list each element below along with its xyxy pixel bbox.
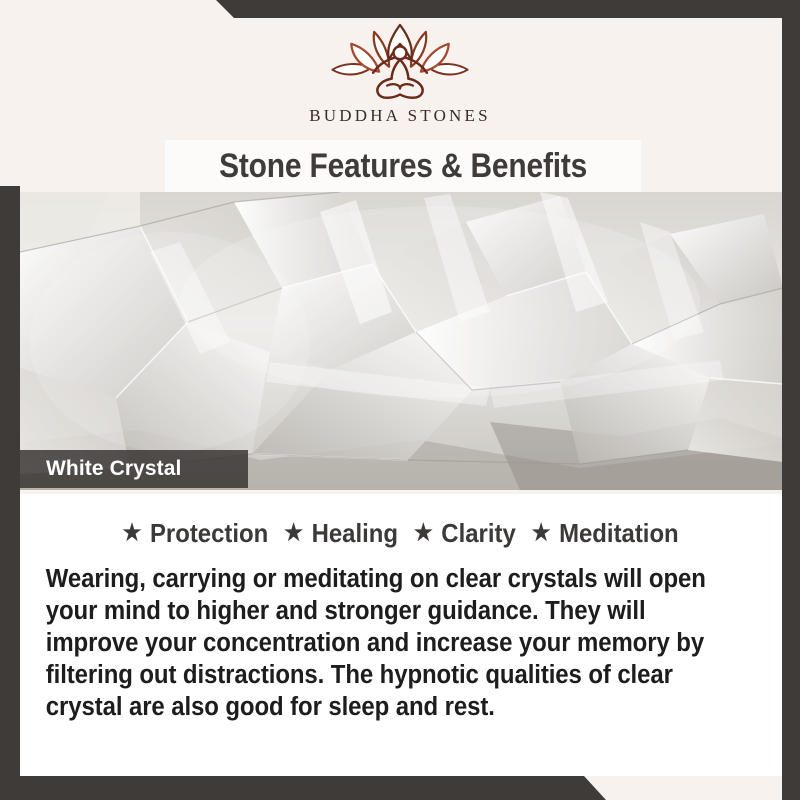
title-plaque: Stone Features & Benefits <box>165 140 641 192</box>
lotus-meditation-icon <box>325 22 475 104</box>
benefit-label: Healing <box>312 518 398 548</box>
benefit-item-1: ★ Healing <box>277 518 400 548</box>
content-panel: ★ Protection ★ Healing ★ Clarity ★ Medit… <box>20 494 783 776</box>
photo-caption-bar: White Crystal <box>20 450 248 488</box>
benefit-label: Clarity <box>441 518 515 548</box>
star-icon: ★ <box>122 519 141 545</box>
frame-edge-left <box>0 186 20 800</box>
benefit-item-0: ★ Protection <box>122 518 270 548</box>
star-icon: ★ <box>532 519 551 545</box>
brand-header: BUDDHA STONES <box>0 0 800 140</box>
photo-caption-label: White Crystal <box>46 457 182 481</box>
benefit-label: Protection <box>150 518 268 548</box>
brand-wordmark: BUDDHA STONES <box>309 106 491 126</box>
star-icon: ★ <box>414 519 433 545</box>
benefits-list: ★ Protection ★ Healing ★ Clarity ★ Medit… <box>71 518 732 549</box>
page-title: Stone Features & Benefits <box>219 147 587 186</box>
star-icon: ★ <box>284 519 303 545</box>
description-text: Wearing, carrying or meditating on clear… <box>42 563 718 723</box>
benefit-item-3: ★ Meditation <box>524 518 680 548</box>
benefit-label: Meditation <box>559 518 679 548</box>
crystal-photo <box>20 192 783 490</box>
frame-edge-right <box>782 0 800 800</box>
frame-edge-bottom <box>0 776 800 800</box>
benefit-item-2: ★ Clarity <box>406 518 517 548</box>
infographic-card: BUDDHA STONES <box>0 0 800 800</box>
